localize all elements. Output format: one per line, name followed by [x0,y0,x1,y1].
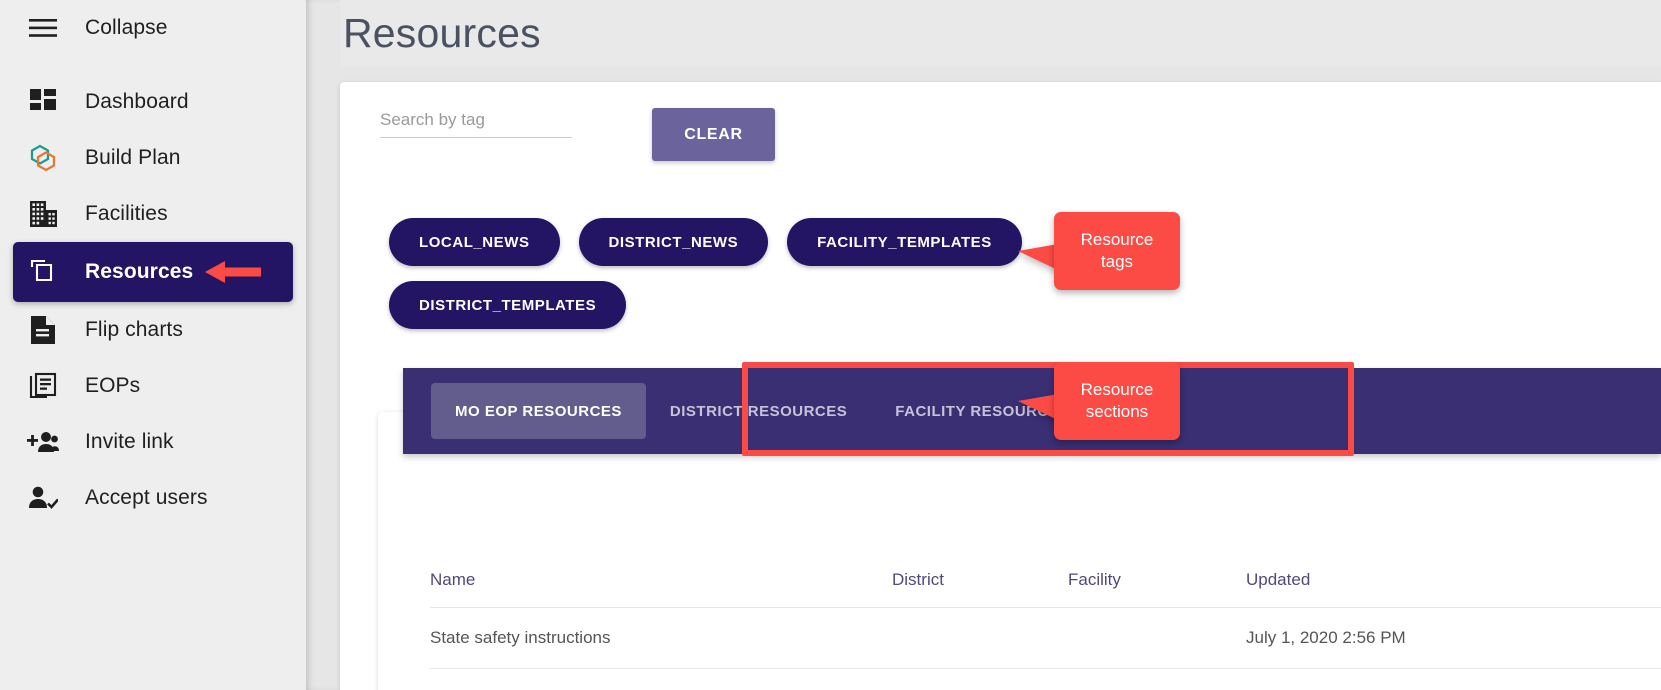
callout-resource-sections: Resource sections [1054,362,1180,440]
sidebar-item-dashboard[interactable]: Dashboard [0,74,306,130]
cell-name: State safety instructions [430,628,892,648]
dashboard-icon [27,86,59,118]
sidebar-item-accept-users[interactable]: Accept users [0,470,306,526]
main-content: Resources CLEAR LOCAL_NEWS DISTRICT_NEWS… [340,0,1661,690]
cell-updated: July 1, 2020 2:56 PM [1246,628,1546,648]
sidebar-item-build-plan-label: Build Plan [85,146,181,170]
page-header: Resources [340,0,1661,66]
sidebar-item-eops-label: EOPs [85,374,140,398]
sidebar-item-resources-label: Resources [85,260,193,284]
tab-mo-eop-resources[interactable]: MO EOP RESOURCES [431,383,646,439]
callout-resource-tags: Resource tags [1054,212,1180,290]
resource-table: Name District Facility Updated State saf… [430,552,1661,690]
hexagon-logo-icon [27,142,59,174]
sidebar-collapse-label: Collapse [85,16,168,40]
building-icon [27,198,59,230]
callout-line-1: Resource [1081,380,1154,399]
page-title: Resources [340,10,541,57]
tag-chip[interactable]: DISTRICT_TEMPLATES [389,281,626,329]
sidebar-item-facilities[interactable]: Facilities [0,186,306,242]
search-row: CLEAR [380,110,572,138]
document-icon [27,314,59,346]
table-row[interactable]: MO Hazard mitigation July 1, 2020 2:52 P… [430,669,1661,690]
tag-list: LOCAL_NEWS DISTRICT_NEWS FACILITY_TEMPLA… [389,218,1089,329]
column-header-facility[interactable]: Facility [1068,570,1246,590]
person-check-icon [27,482,59,514]
column-header-updated[interactable]: Updated [1246,570,1546,590]
tag-chip[interactable]: DISTRICT_NEWS [579,218,769,266]
tag-chip[interactable]: FACILITY_TEMPLATES [787,218,1022,266]
sidebar-item-dashboard-label: Dashboard [85,90,189,114]
tab-district-resources[interactable]: DISTRICT RESOURCES [646,383,871,439]
sidebar-item-invite-link[interactable]: Invite link [0,414,306,470]
sidebar-item-resources[interactable]: Resources [13,242,293,302]
column-header-name[interactable]: Name [430,570,892,590]
search-input[interactable] [380,110,572,130]
search-field[interactable] [380,110,572,138]
sidebar-item-flip-charts[interactable]: Flip charts [0,302,306,358]
sidebar: Collapse Dashboard Build Plan [0,0,306,690]
column-header-district[interactable]: District [892,570,1068,590]
app-root: Collapse Dashboard Build Plan [0,0,1661,690]
callout-resource-tags-text: Resource tags [1081,229,1154,274]
callout-line-1: Resource [1081,230,1154,249]
sidebar-item-facilities-label: Facilities [85,202,168,226]
table-row[interactable]: State safety instructions July 1, 2020 2… [430,608,1661,669]
copy-stack-icon [27,256,59,288]
tag-chip[interactable]: LOCAL_NEWS [389,218,560,266]
library-icon [27,370,59,402]
sidebar-item-accept-users-label: Accept users [85,486,208,510]
table-header-row: Name District Facility Updated [430,552,1661,608]
sidebar-item-flip-charts-label: Flip charts [85,318,183,342]
sidebar-item-eops[interactable]: EOPs [0,358,306,414]
resources-card: CLEAR LOCAL_NEWS DISTRICT_NEWS FACILITY_… [340,82,1661,690]
sidebar-item-invite-link-label: Invite link [85,430,174,454]
sidebar-collapse-button[interactable]: Collapse [0,0,306,56]
callout-resource-sections-text: Resource sections [1081,379,1154,424]
person-add-icon [27,426,59,458]
callout-line-2: sections [1086,402,1148,421]
sidebar-divider [306,0,340,690]
clear-button[interactable]: CLEAR [652,108,775,161]
annotation-arrow-resources [205,259,261,285]
hamburger-menu-icon [27,12,59,44]
callout-line-2: tags [1101,252,1133,271]
sidebar-item-build-plan[interactable]: Build Plan [0,130,306,186]
